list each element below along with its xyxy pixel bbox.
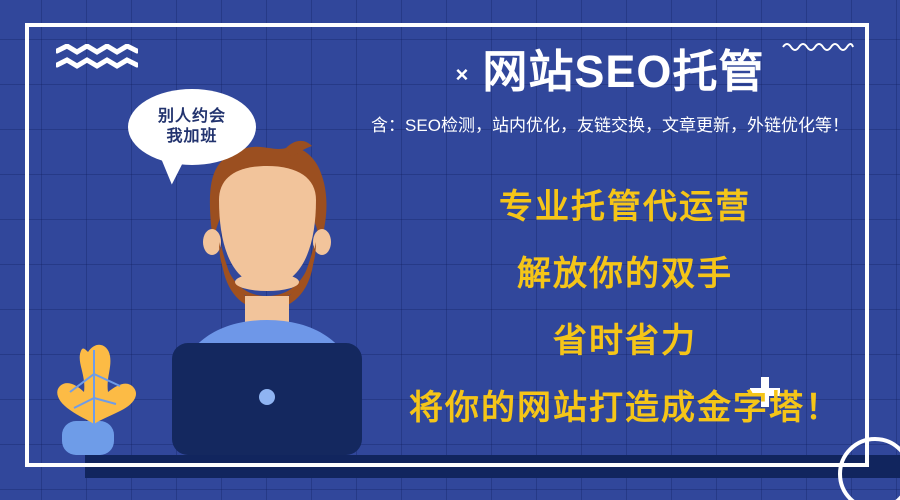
slogan-item: 解放你的双手 <box>370 257 880 291</box>
speech-bubble-line-1: 别人约会 <box>158 107 226 127</box>
x-mark-icon: × <box>456 64 469 86</box>
wave-thick-icon <box>56 44 138 72</box>
speech-bubble: 别人约会 我加班 <box>128 89 256 165</box>
poster-canvas: 别人约会 我加班 × 网站SEO托管 含：SEO检测，站内优化，友链交换，文章更… <box>0 0 900 500</box>
page-title: 网站SEO托管 <box>482 48 764 95</box>
slogan-item: 专业托管代运营 <box>370 190 880 224</box>
slogan-item: 省时省力 <box>370 324 880 358</box>
speech-bubble-line-2: 我加班 <box>166 127 217 147</box>
slogan-list: 专业托管代运营 解放你的双手 省时省力 将你的网站打造成金字塔！ <box>370 190 880 425</box>
slogan-item: 将你的网站打造成金字塔！ <box>370 391 880 425</box>
headline-block: × 网站SEO托管 含：SEO检测，站内优化，友链交换，文章更新，外链优化等！ <box>330 48 890 136</box>
page-subtitle: 含：SEO检测，站内优化，友链交换，文章更新，外链优化等！ <box>330 111 890 136</box>
title-row: × 网站SEO托管 <box>330 48 890 95</box>
